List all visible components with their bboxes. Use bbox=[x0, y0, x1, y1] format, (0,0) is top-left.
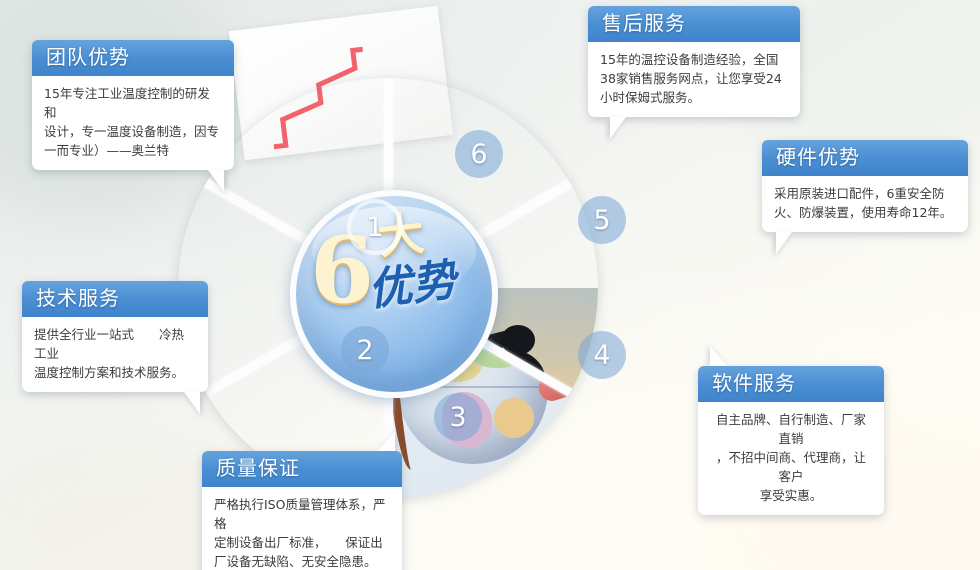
card-after-sales[interactable]: 售后服务 15年的温控设备制造经验，全国 38家销售服务网点，让您享受24 小时… bbox=[588, 6, 800, 117]
card-team-tail bbox=[208, 170, 224, 192]
card-quality-body: 严格执行ISO质量管理体系，严格 定制设备出厂标准， 保证出 厂设备无缺陷、无安… bbox=[202, 487, 402, 570]
card-team-line-2: 设计，专一温度设备制造，因专 bbox=[44, 122, 222, 141]
card-software-line-3: 享受实惠。 bbox=[710, 486, 872, 505]
card-team-advantage[interactable]: 团队优势 15年专注工业温度控制的研发和 设计，专一温度设备制造，因专 一而专业… bbox=[32, 40, 234, 170]
card-after-sales-body: 15年的温控设备制造经验，全国 38家销售服务网点，让您享受24 小时保姆式服务… bbox=[588, 42, 800, 117]
card-software-body: 自主品牌、自行制造、厂家直销 ，不招中间商、代理商，让客户 享受实惠。 bbox=[698, 402, 884, 515]
card-after-sales-line-1: 15年的温控设备制造经验，全国 bbox=[600, 50, 788, 69]
card-quality-line-2: 定制设备出厂标准， 保证出 bbox=[214, 533, 390, 552]
card-tech-service[interactable]: 技术服务 提供全行业一站式 冷热工业 温度控制方案和技术服务。 bbox=[22, 281, 208, 392]
card-team-line-1: 15年专注工业温度控制的研发和 bbox=[44, 84, 222, 122]
card-after-sales-title: 售后服务 bbox=[588, 6, 800, 42]
card-hardware-line-2: 火、防爆装置，使用寿命12年。 bbox=[774, 203, 956, 222]
marker-5-label: 5 bbox=[593, 205, 610, 236]
card-quality-tail bbox=[378, 431, 395, 451]
infographic-canvas: INTC 440.95 bbox=[0, 0, 980, 570]
card-software-service[interactable]: 软件服务 自主品牌、自行制造、厂家直销 ，不招中间商、代理商，让客户 享受实惠。 bbox=[698, 366, 884, 515]
card-tech-service-tail bbox=[184, 392, 200, 414]
marker-6[interactable]: 6 bbox=[455, 130, 503, 178]
card-hardware-line-1: 采用原装进口配件，6重安全防 bbox=[774, 184, 956, 203]
marker-6-label: 6 bbox=[470, 139, 487, 170]
card-quality-assurance[interactable]: 质量保证 严格执行ISO质量管理体系，严格 定制设备出厂标准， 保证出 厂设备无… bbox=[202, 451, 402, 570]
card-after-sales-line-2: 38家销售服务网点，让您享受24 bbox=[600, 69, 788, 88]
card-team-body: 15年专注工业温度控制的研发和 设计，专一温度设备制造，因专 一而专业）——奥兰… bbox=[32, 76, 234, 170]
card-team-line-3: 一而专业）——奥兰特 bbox=[44, 141, 222, 160]
card-software-line-2: ，不招中间商、代理商，让客户 bbox=[710, 448, 872, 486]
card-tech-service-title: 技术服务 bbox=[22, 281, 208, 317]
marker-3-label: 3 bbox=[449, 402, 466, 433]
marker-2[interactable]: 2 bbox=[341, 326, 389, 374]
marker-4[interactable]: 4 bbox=[578, 331, 626, 379]
card-quality-title: 质量保证 bbox=[202, 451, 402, 487]
card-team-title: 团队优势 bbox=[32, 40, 234, 76]
card-quality-line-3: 厂设备无缺陷、无安全隐患。 bbox=[214, 552, 390, 570]
card-tech-service-body: 提供全行业一站式 冷热工业 温度控制方案和技术服务。 bbox=[22, 317, 208, 392]
card-after-sales-tail bbox=[610, 117, 626, 139]
marker-4-label: 4 bbox=[593, 340, 610, 371]
card-hardware-title: 硬件优势 bbox=[762, 140, 968, 176]
card-software-line-1: 自主品牌、自行制造、厂家直销 bbox=[710, 410, 872, 448]
card-hardware-tail bbox=[776, 232, 792, 254]
marker-2-label: 2 bbox=[356, 335, 373, 366]
marker-5[interactable]: 5 bbox=[578, 196, 626, 244]
card-hardware-advantage[interactable]: 硬件优势 采用原装进口配件，6重安全防 火、防爆装置，使用寿命12年。 bbox=[762, 140, 968, 232]
card-after-sales-line-3: 小时保姆式服务。 bbox=[600, 88, 788, 107]
card-tech-service-line-1: 提供全行业一站式 冷热工业 bbox=[34, 325, 196, 363]
marker-1-label: 1 bbox=[366, 212, 383, 243]
card-hardware-body: 采用原装进口配件，6重安全防 火、防爆装置，使用寿命12年。 bbox=[762, 176, 968, 232]
card-software-tail bbox=[710, 346, 727, 366]
badge-word: 优势 bbox=[365, 257, 458, 315]
marker-3[interactable]: 3 bbox=[434, 393, 482, 441]
card-quality-line-1: 严格执行ISO质量管理体系，严格 bbox=[214, 495, 390, 533]
card-software-title: 软件服务 bbox=[698, 366, 884, 402]
marker-1[interactable]: 1 bbox=[347, 199, 403, 255]
card-tech-service-line-2: 温度控制方案和技术服务。 bbox=[34, 363, 196, 382]
